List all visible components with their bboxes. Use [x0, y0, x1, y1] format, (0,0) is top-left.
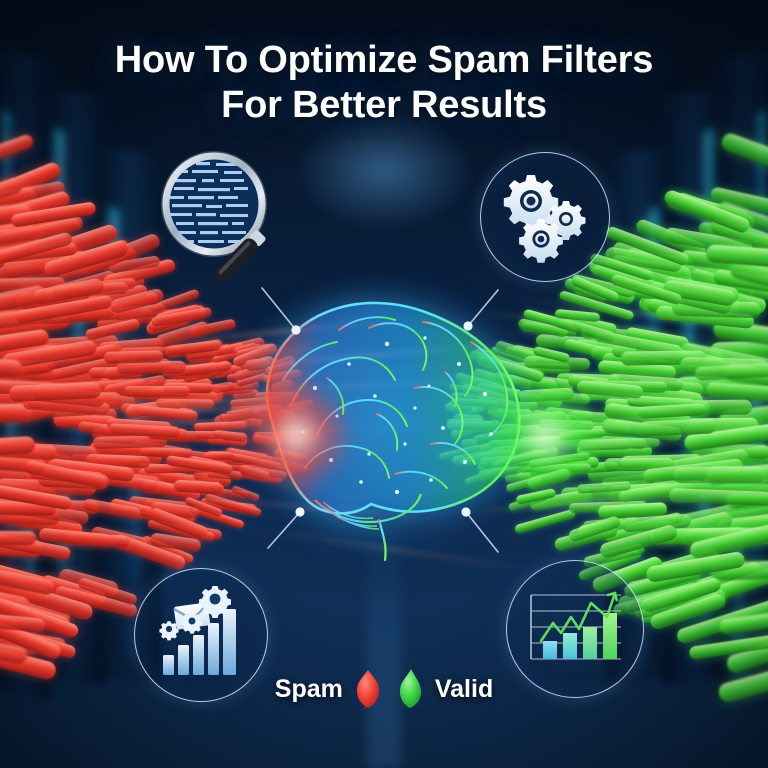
valid-impact-flare: [486, 382, 606, 492]
page-title: How To Optimize Spam Filters For Better …: [0, 38, 768, 128]
title-line-1: How To Optimize Spam Filters: [115, 39, 653, 81]
poster-canvas: How To Optimize Spam Filters For Better …: [0, 0, 768, 768]
magnifying-glass-code-icon[interactable]: [152, 146, 312, 296]
floor-light-band: [367, 538, 401, 768]
gears-icon[interactable]: [480, 152, 610, 282]
title-line-2: For Better Results: [0, 83, 768, 128]
spam-impact-flare: [236, 380, 356, 490]
ceiling-glow: [294, 110, 474, 230]
valid-flame-icon: [393, 668, 427, 710]
legend-spam-label: Spam: [275, 677, 343, 702]
legend-valid-label: Valid: [435, 677, 493, 702]
legend: Spam Valid: [0, 668, 768, 710]
spam-flame-icon: [351, 668, 385, 710]
